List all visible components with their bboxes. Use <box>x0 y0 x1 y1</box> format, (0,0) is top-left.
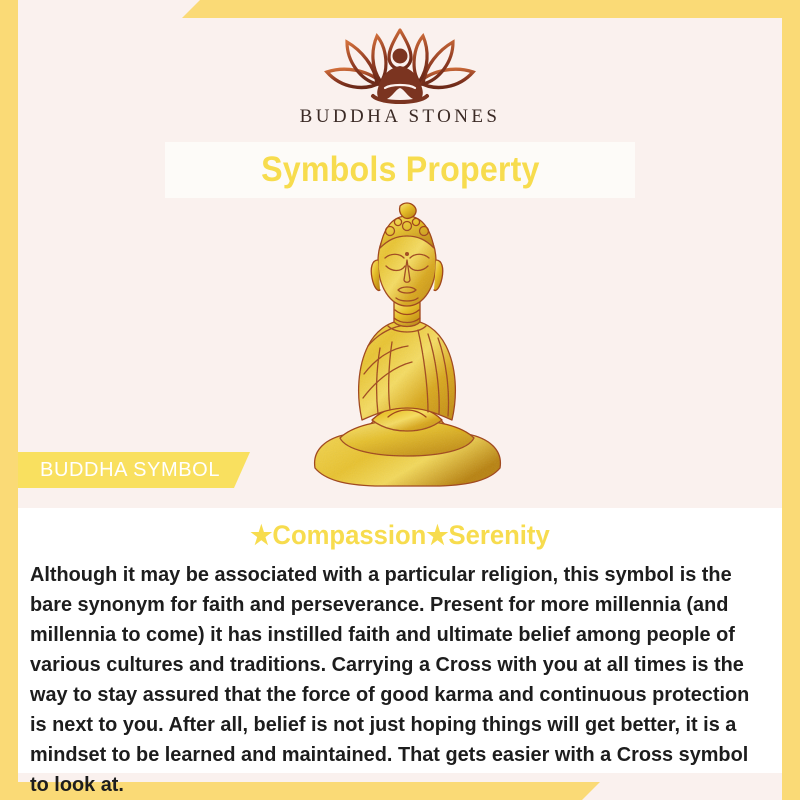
brand-logo: BUDDHA STONES <box>0 26 800 138</box>
headline-word-compassion: Compassion <box>272 520 426 550</box>
brand-name: BUDDHA STONES <box>300 106 501 128</box>
title-band: Symbols Property <box>165 142 635 198</box>
article-panel: ★Compassion★Serenity Although it may be … <box>18 508 782 773</box>
buddha-symbol-badge: BUDDHA SYMBOL <box>18 452 250 488</box>
star-icon-left: ★ <box>250 520 272 550</box>
headline-word-serenity: Serenity <box>448 520 549 550</box>
promo-graphic-page: BUDDHA STONES Symbols Property <box>0 0 800 800</box>
page-title: Symbols Property <box>261 150 540 190</box>
star-icon-right: ★ <box>426 520 448 550</box>
article-headline: ★Compassion★Serenity <box>37 520 763 551</box>
frame-top-strip <box>0 0 800 18</box>
lotus-meditation-icon <box>315 26 485 104</box>
buddha-symbol-badge-label: BUDDHA SYMBOL <box>18 459 220 482</box>
buddha-statue-image <box>300 198 515 498</box>
article-body: Although it may be associated with a par… <box>30 560 750 800</box>
